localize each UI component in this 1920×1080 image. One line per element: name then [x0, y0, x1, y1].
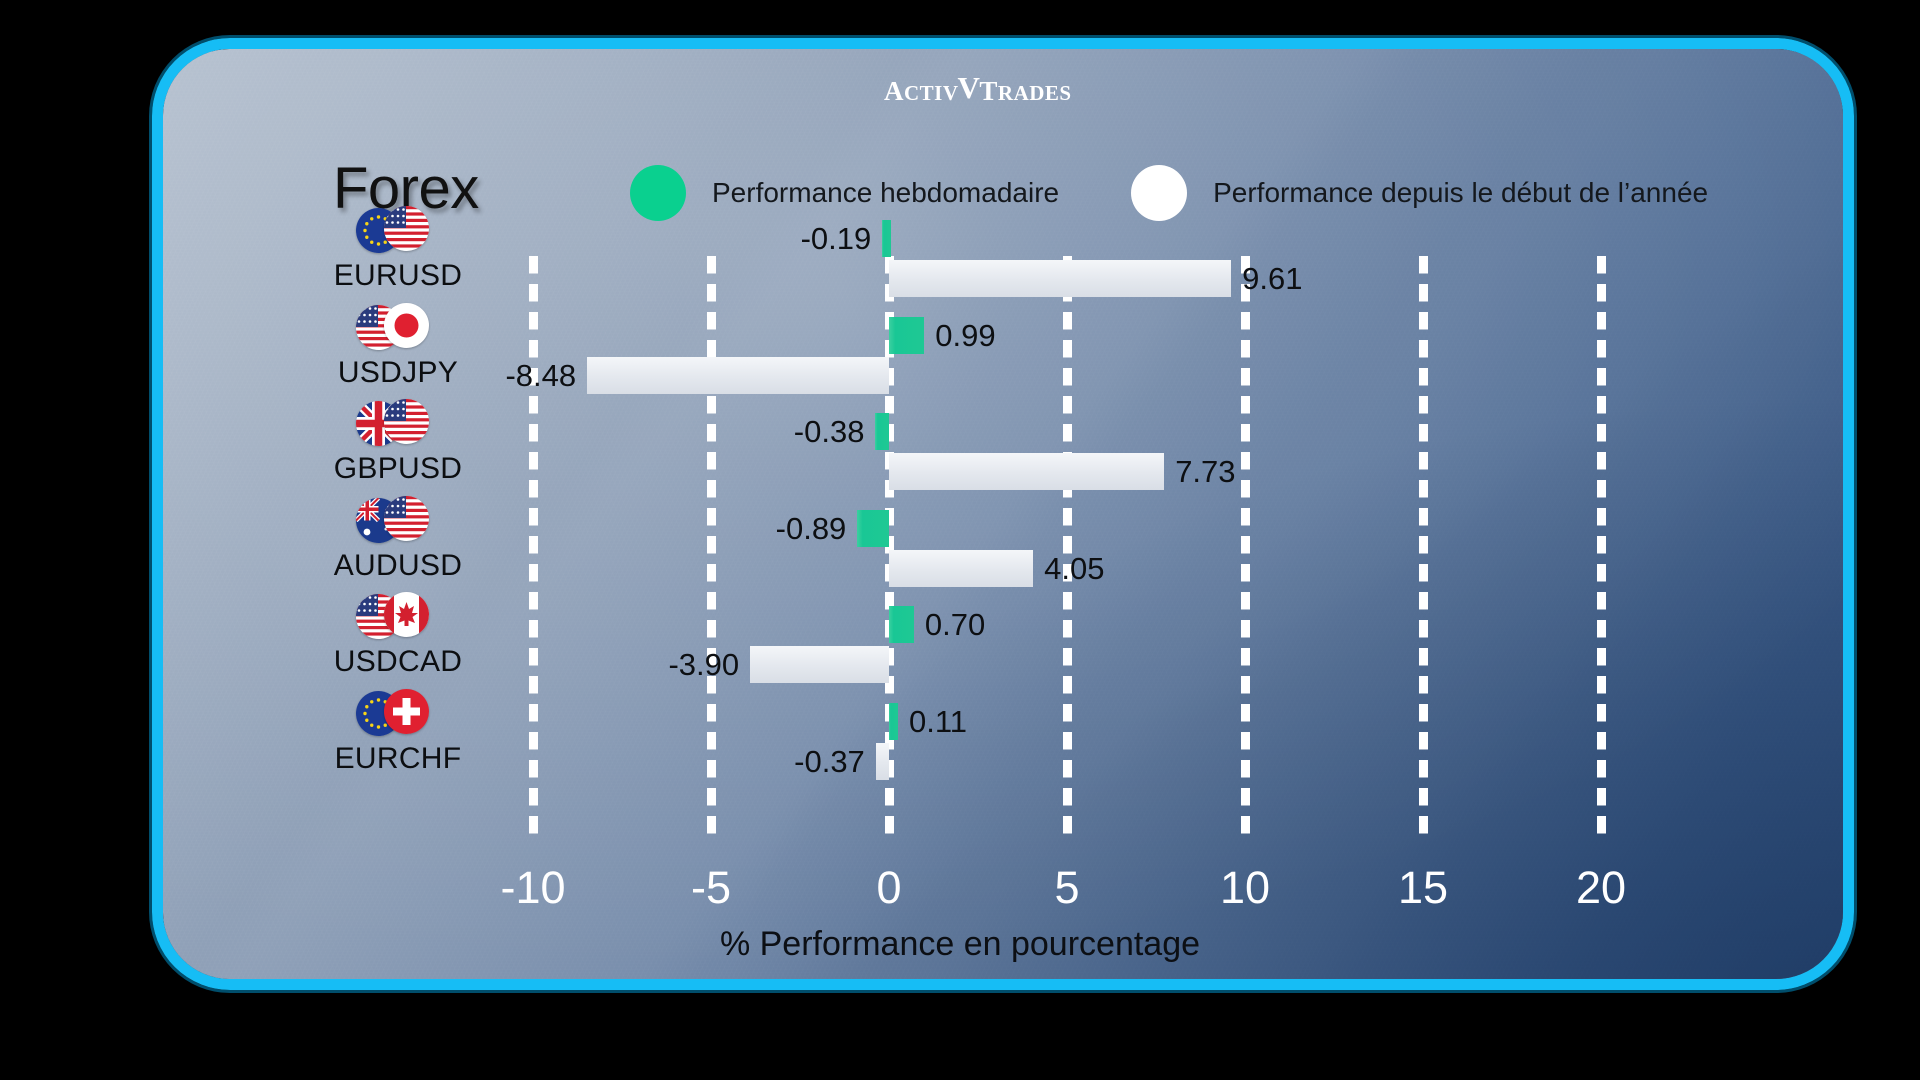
- pair-name: USDCAD: [268, 645, 528, 679]
- bar-gbpusd-ytd[interactable]: [889, 453, 1164, 490]
- bar-eurusd-weekly[interactable]: [882, 220, 891, 257]
- flag-pair-icon: [268, 303, 528, 351]
- x-tick-label-20: 20: [1531, 862, 1671, 914]
- bar-value-usdcad-ytd: -3.90: [668, 646, 739, 683]
- bar-usdjpy-weekly[interactable]: [889, 317, 924, 354]
- screenshot-root: ACTIVVTRADES Forex Performance hebdomada…: [0, 0, 1920, 1080]
- bar-audusd-ytd[interactable]: [889, 550, 1033, 587]
- pair-label-eurusd[interactable]: EURUSD: [268, 206, 528, 293]
- bar-value-eurchf-weekly: 0.11: [909, 703, 967, 740]
- pair-name: EURCHF: [268, 742, 528, 776]
- x-tick-label-5: 5: [997, 862, 1137, 914]
- flag-pair-icon: [268, 399, 528, 447]
- x-axis-label: % Performance en pourcentage: [0, 925, 1920, 964]
- flag-us-icon: [384, 399, 429, 444]
- flag-pair-icon: [268, 496, 528, 544]
- bar-value-audusd-weekly: -0.89: [776, 510, 847, 547]
- bar-usdjpy-ytd[interactable]: [587, 357, 889, 394]
- bar-audusd-weekly[interactable]: [857, 510, 889, 547]
- pair-name: GBPUSD: [268, 452, 528, 486]
- flag-ca-icon: [384, 592, 429, 637]
- flag-pair-icon: [268, 689, 528, 737]
- bar-eurchf-weekly[interactable]: [889, 703, 898, 740]
- bar-value-usdjpy-weekly: 0.99: [935, 317, 995, 354]
- pair-label-gbpusd[interactable]: GBPUSD: [268, 399, 528, 486]
- x-tick-label-15: 15: [1353, 862, 1493, 914]
- bar-value-eurchf-ytd: -0.37: [794, 743, 865, 780]
- x-tick-label-0: 0: [819, 862, 959, 914]
- bar-value-gbpusd-weekly: -0.38: [794, 413, 865, 450]
- chart-row: EURCHF0.11-0.37: [0, 739, 1920, 835]
- x-tick-label--10: -10: [463, 862, 603, 914]
- bar-value-eurusd-weekly: -0.19: [801, 220, 872, 257]
- bar-value-audusd-ytd: 4.05: [1044, 550, 1104, 587]
- pair-label-eurchf[interactable]: EURCHF: [268, 689, 528, 776]
- bar-value-usdjpy-ytd: -8.48: [505, 357, 576, 394]
- bar-usdcad-ytd[interactable]: [750, 646, 889, 683]
- plot-area: -10-505101520 EURUSD-0.199.61 USDJPY0.99…: [0, 0, 1920, 1080]
- chart-content: ACTIVVTRADES Forex Performance hebdomada…: [0, 0, 1920, 1080]
- bar-eurchf-ytd[interactable]: [876, 743, 889, 780]
- pair-name: USDJPY: [268, 356, 528, 390]
- x-tick-label--5: -5: [641, 862, 781, 914]
- flag-us-icon: [384, 206, 429, 251]
- pair-label-usdjpy[interactable]: USDJPY: [268, 303, 528, 390]
- pair-name: EURUSD: [268, 259, 528, 293]
- bar-gbpusd-weekly[interactable]: [875, 413, 889, 450]
- bar-eurusd-ytd[interactable]: [889, 260, 1231, 297]
- bar-value-usdcad-weekly: 0.70: [925, 606, 985, 643]
- bar-usdcad-weekly[interactable]: [889, 606, 914, 643]
- x-tick-label-10: 10: [1175, 862, 1315, 914]
- pair-label-usdcad[interactable]: USDCAD: [268, 592, 528, 679]
- flag-us-icon: [384, 496, 429, 541]
- pair-name: AUDUSD: [268, 549, 528, 583]
- pair-label-audusd[interactable]: AUDUSD: [268, 496, 528, 583]
- flag-pair-icon: [268, 592, 528, 640]
- flag-jp-icon: [384, 303, 429, 348]
- bar-value-gbpusd-ytd: 7.73: [1175, 453, 1235, 490]
- bar-value-eurusd-ytd: 9.61: [1242, 260, 1302, 297]
- flag-pair-icon: [268, 206, 528, 254]
- flag-ch-icon: [384, 689, 429, 734]
